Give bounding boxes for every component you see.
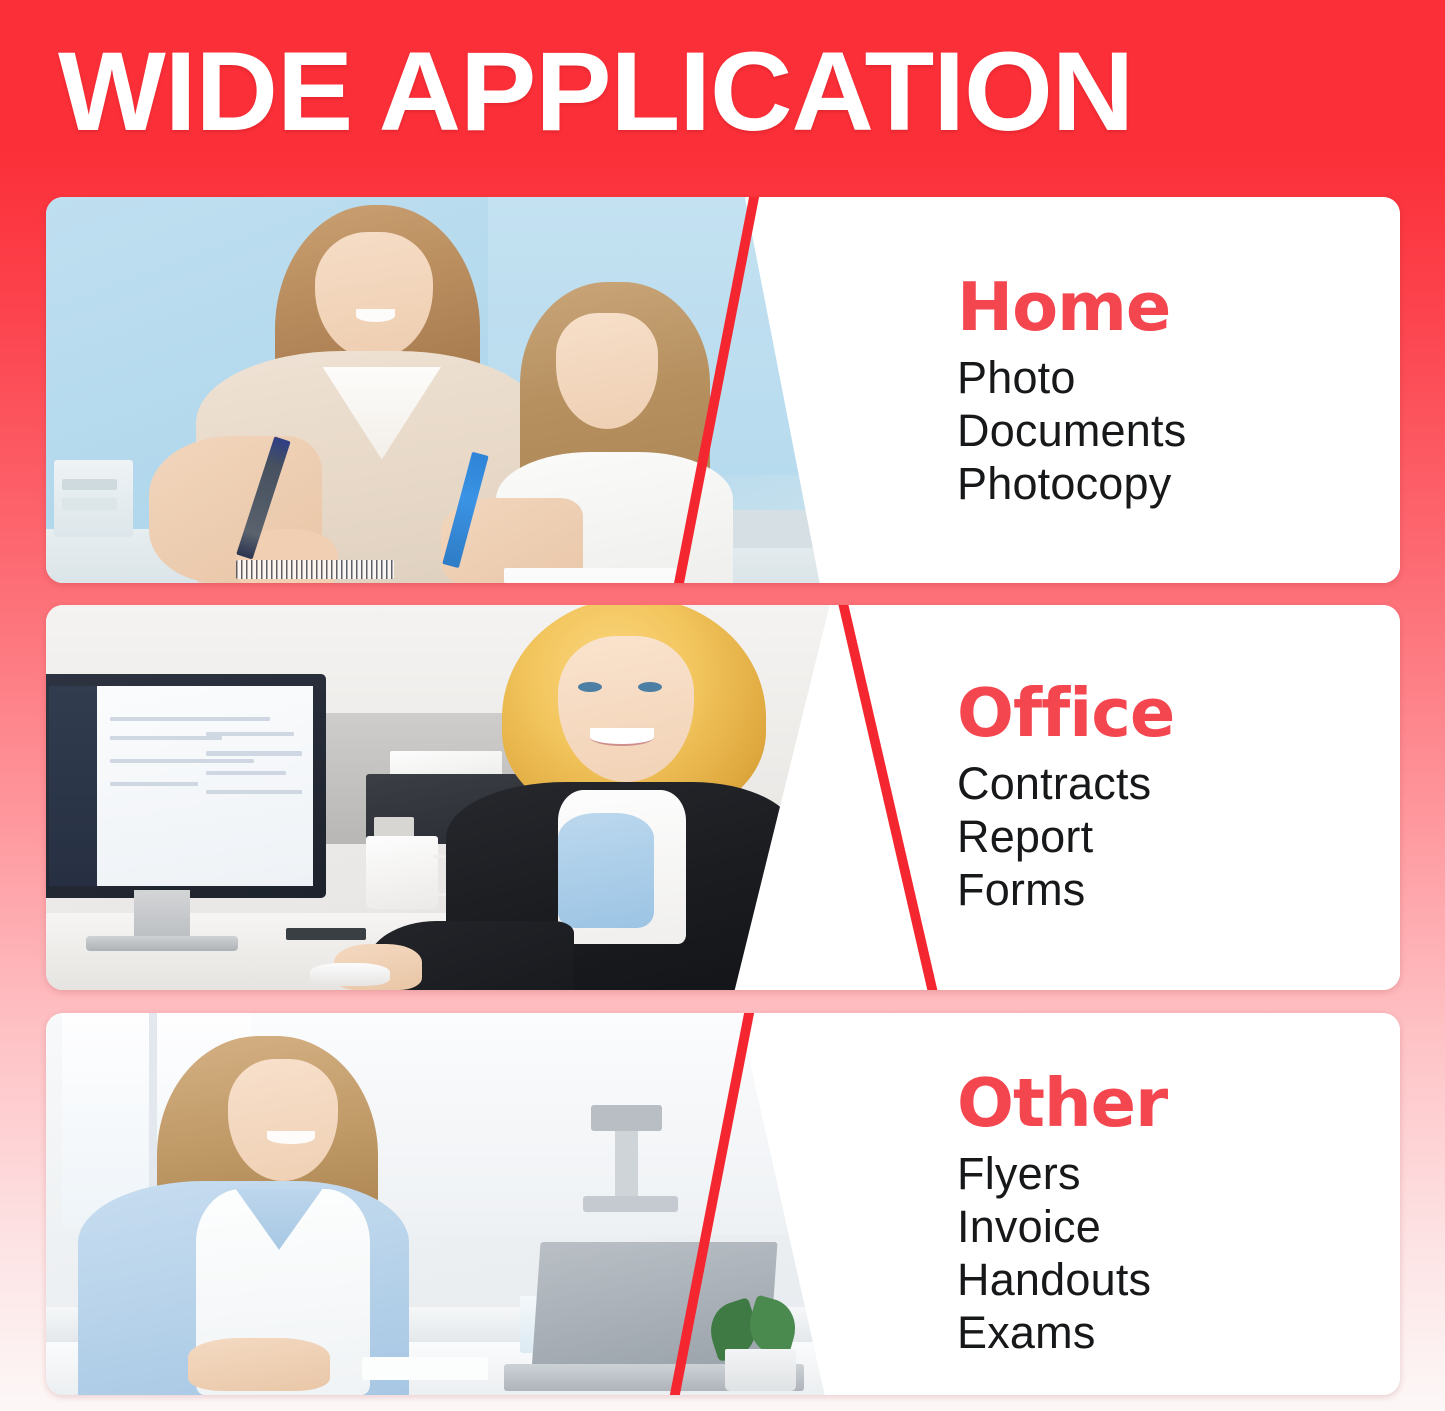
page-title: WIDE APPLICATION — [58, 36, 1425, 156]
application-card-other: Other Flyers Invoice Handouts Exams — [46, 1013, 1400, 1395]
card-photo-other — [46, 1013, 836, 1395]
list-item: Report — [957, 810, 1400, 863]
card-heading-other: Other — [957, 1065, 1400, 1141]
photo-scene-office — [46, 605, 846, 990]
list-item: Invoice — [957, 1200, 1400, 1253]
infographic-page: WIDE APPLICATION — [0, 0, 1445, 1411]
card-heading-home: Home — [957, 269, 1400, 345]
list-item: Documents — [957, 404, 1400, 457]
card-item-list-home: Photo Documents Photocopy — [957, 351, 1400, 510]
list-item: Photocopy — [957, 457, 1400, 510]
application-card-home: Home Photo Documents Photocopy — [46, 197, 1400, 583]
card-item-list-office: Contracts Report Forms — [957, 757, 1400, 916]
list-item: Exams — [957, 1306, 1400, 1359]
card-item-list-other: Flyers Invoice Handouts Exams — [957, 1147, 1400, 1359]
card-photo-office — [46, 605, 846, 990]
list-item: Contracts — [957, 757, 1400, 810]
list-item: Photo — [957, 351, 1400, 404]
card-heading-office: Office — [957, 675, 1400, 751]
list-item: Handouts — [957, 1253, 1400, 1306]
list-item: Forms — [957, 863, 1400, 916]
photo-scene-other — [46, 1013, 836, 1395]
application-card-office: Office Contracts Report Forms — [46, 605, 1400, 990]
list-item: Flyers — [957, 1147, 1400, 1200]
